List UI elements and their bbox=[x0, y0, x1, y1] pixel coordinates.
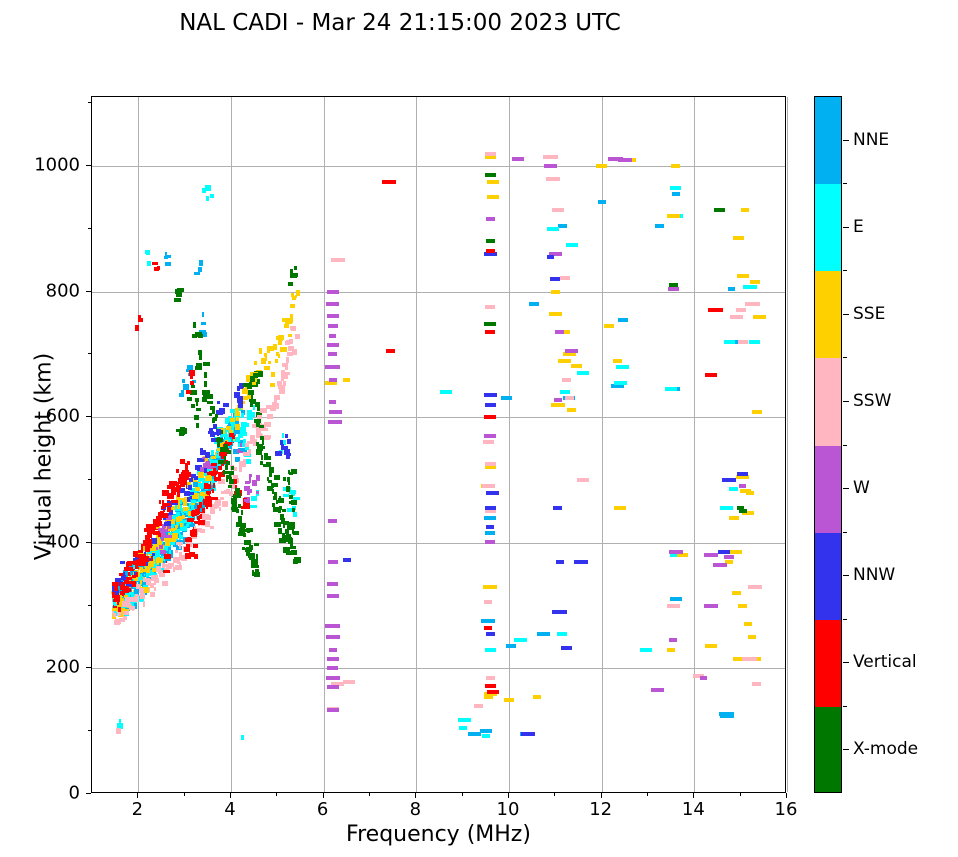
colorbar-tick bbox=[843, 401, 849, 402]
data-point bbox=[181, 390, 184, 394]
colorbar-tick bbox=[843, 227, 849, 228]
data-point bbox=[207, 459, 214, 465]
data-point bbox=[129, 602, 134, 607]
data-point bbox=[217, 439, 221, 444]
colorbar-segment-vertical bbox=[815, 620, 841, 707]
data-point bbox=[204, 484, 211, 489]
data-point bbox=[141, 577, 145, 581]
data-point bbox=[125, 602, 130, 607]
data-point bbox=[145, 592, 147, 595]
data-point bbox=[258, 371, 263, 377]
data-point bbox=[191, 381, 194, 387]
data-point bbox=[247, 394, 251, 399]
data-point bbox=[260, 461, 263, 465]
data-point bbox=[720, 506, 733, 510]
data-point bbox=[267, 414, 273, 419]
data-point bbox=[150, 560, 154, 565]
data-point bbox=[116, 593, 120, 598]
data-point bbox=[201, 467, 208, 470]
data-point bbox=[123, 609, 128, 614]
data-point bbox=[741, 208, 749, 212]
data-point bbox=[154, 581, 156, 585]
data-point bbox=[166, 547, 171, 551]
data-point bbox=[196, 528, 202, 532]
data-point bbox=[229, 426, 234, 431]
data-point bbox=[220, 437, 223, 442]
colorbar-segment-e bbox=[815, 184, 841, 271]
data-point bbox=[238, 440, 243, 444]
data-point bbox=[217, 500, 221, 506]
data-point bbox=[264, 435, 271, 439]
data-point bbox=[167, 521, 171, 525]
data-point bbox=[179, 500, 182, 504]
data-point bbox=[235, 493, 241, 498]
data-point bbox=[176, 506, 179, 510]
data-point bbox=[281, 378, 284, 381]
data-point bbox=[121, 582, 125, 585]
data-point bbox=[248, 554, 252, 558]
data-point bbox=[125, 570, 128, 576]
data-point bbox=[198, 334, 200, 338]
data-point bbox=[256, 433, 262, 437]
data-point bbox=[219, 447, 223, 451]
data-point bbox=[329, 334, 336, 338]
data-point bbox=[187, 461, 190, 465]
y-axis-tick bbox=[86, 667, 91, 668]
data-point bbox=[205, 521, 210, 527]
data-point bbox=[182, 515, 185, 519]
data-point bbox=[198, 500, 202, 505]
data-point bbox=[246, 547, 250, 551]
data-point bbox=[115, 619, 121, 624]
data-point bbox=[154, 568, 160, 572]
data-point bbox=[120, 596, 125, 600]
data-point bbox=[737, 472, 748, 476]
data-point bbox=[210, 509, 215, 514]
x-axis-minor-tick bbox=[554, 793, 555, 796]
data-point bbox=[118, 607, 121, 612]
data-point bbox=[271, 483, 274, 488]
data-point bbox=[226, 442, 232, 445]
data-point bbox=[279, 450, 283, 454]
data-point bbox=[160, 558, 166, 563]
data-point bbox=[485, 465, 496, 469]
data-point bbox=[167, 553, 173, 558]
data-point bbox=[123, 570, 128, 576]
data-point bbox=[240, 427, 246, 433]
data-point bbox=[141, 560, 148, 565]
data-point bbox=[154, 553, 159, 558]
data-point bbox=[172, 487, 179, 491]
data-point bbox=[126, 563, 133, 567]
data-point bbox=[156, 566, 161, 572]
data-point bbox=[749, 340, 760, 344]
data-point bbox=[116, 604, 123, 610]
data-point bbox=[484, 393, 497, 397]
data-point bbox=[227, 448, 229, 453]
data-point bbox=[121, 603, 128, 608]
data-point bbox=[244, 486, 250, 491]
data-point bbox=[139, 579, 145, 584]
data-point bbox=[139, 588, 144, 593]
data-point bbox=[149, 560, 152, 564]
data-point bbox=[280, 336, 283, 341]
data-point bbox=[286, 486, 290, 492]
data-point bbox=[226, 489, 230, 492]
data-point bbox=[230, 437, 233, 443]
data-point bbox=[240, 399, 242, 404]
data-point bbox=[180, 481, 183, 484]
data-point bbox=[176, 485, 181, 489]
data-point bbox=[458, 718, 471, 722]
data-point bbox=[202, 457, 205, 462]
data-point bbox=[260, 446, 265, 449]
data-point bbox=[126, 606, 130, 611]
data-point bbox=[245, 548, 252, 552]
data-point bbox=[173, 567, 175, 572]
data-point bbox=[738, 340, 748, 344]
data-point bbox=[272, 489, 274, 494]
data-point bbox=[484, 415, 496, 419]
data-point bbox=[131, 562, 137, 566]
data-point bbox=[566, 243, 578, 247]
data-point bbox=[286, 534, 291, 538]
data-point bbox=[565, 396, 574, 400]
data-point bbox=[171, 506, 175, 510]
data-point bbox=[222, 454, 226, 458]
data-point bbox=[228, 423, 234, 427]
data-point bbox=[485, 330, 495, 334]
data-point bbox=[234, 501, 237, 506]
data-point bbox=[343, 680, 355, 684]
data-point bbox=[218, 444, 224, 447]
data-point bbox=[200, 467, 206, 472]
data-point bbox=[125, 600, 132, 606]
data-point bbox=[158, 515, 160, 519]
data-point bbox=[152, 262, 158, 265]
data-point bbox=[136, 572, 140, 577]
data-point bbox=[234, 479, 237, 484]
data-point bbox=[145, 561, 148, 566]
data-point bbox=[135, 577, 137, 582]
data-point bbox=[555, 330, 570, 334]
data-point bbox=[116, 609, 120, 613]
data-point bbox=[293, 531, 299, 535]
data-point bbox=[205, 459, 210, 463]
data-point bbox=[125, 600, 127, 604]
data-point bbox=[179, 534, 181, 540]
data-point bbox=[733, 236, 744, 240]
data-point bbox=[232, 435, 235, 439]
data-point bbox=[329, 648, 337, 652]
data-point bbox=[267, 486, 273, 491]
data-point bbox=[151, 575, 158, 579]
data-point bbox=[227, 450, 231, 454]
data-point bbox=[154, 578, 159, 583]
data-point bbox=[162, 490, 169, 496]
data-point bbox=[140, 567, 143, 573]
data-point bbox=[164, 553, 167, 557]
data-point bbox=[142, 573, 146, 577]
data-point bbox=[113, 596, 119, 601]
data-point bbox=[218, 499, 220, 505]
data-point bbox=[235, 419, 239, 423]
y-axis-minor-tick bbox=[88, 102, 91, 103]
data-point bbox=[146, 524, 151, 529]
data-point bbox=[271, 405, 274, 410]
data-point bbox=[254, 372, 258, 377]
data-point bbox=[163, 542, 165, 547]
data-point bbox=[199, 497, 203, 500]
data-point bbox=[145, 578, 151, 584]
data-point bbox=[188, 485, 191, 490]
data-point bbox=[179, 488, 185, 493]
data-point bbox=[119, 618, 125, 622]
data-point bbox=[282, 509, 286, 512]
data-point bbox=[225, 428, 228, 432]
data-point bbox=[196, 481, 201, 485]
data-point bbox=[672, 192, 680, 196]
data-point bbox=[187, 518, 191, 524]
data-point bbox=[159, 547, 165, 553]
data-point bbox=[176, 495, 180, 500]
colorbar-boundary-tick bbox=[843, 619, 847, 620]
data-point bbox=[184, 509, 190, 513]
data-point bbox=[655, 224, 664, 228]
data-point bbox=[116, 584, 123, 587]
x-axis-tick-label: 8 bbox=[410, 799, 421, 820]
data-point bbox=[113, 603, 117, 608]
data-point bbox=[293, 559, 298, 564]
data-point bbox=[231, 466, 234, 470]
data-point bbox=[133, 603, 137, 609]
data-point bbox=[202, 312, 204, 317]
gridline-horizontal bbox=[92, 543, 785, 544]
data-point bbox=[132, 594, 138, 597]
data-point bbox=[137, 553, 142, 558]
x-axis-tick-label: 16 bbox=[775, 799, 798, 820]
data-point bbox=[245, 443, 249, 447]
data-point bbox=[130, 597, 137, 602]
data-point bbox=[286, 357, 289, 363]
data-point bbox=[116, 619, 120, 625]
colorbar-boundary-tick bbox=[843, 532, 847, 533]
data-point bbox=[704, 553, 718, 557]
data-point bbox=[239, 406, 241, 411]
data-point bbox=[284, 324, 289, 328]
data-point bbox=[199, 483, 202, 488]
data-point bbox=[114, 585, 118, 591]
data-point bbox=[221, 460, 224, 466]
data-point bbox=[228, 416, 232, 420]
data-point bbox=[196, 423, 199, 428]
data-point bbox=[198, 483, 203, 489]
data-point bbox=[198, 522, 200, 526]
data-point bbox=[228, 433, 231, 438]
data-point bbox=[283, 523, 285, 528]
data-point bbox=[188, 516, 194, 521]
data-point bbox=[192, 509, 195, 513]
data-point bbox=[184, 497, 190, 500]
data-point bbox=[146, 549, 149, 552]
data-point bbox=[229, 422, 234, 425]
data-point bbox=[224, 471, 230, 474]
data-point bbox=[211, 472, 216, 476]
data-point bbox=[157, 564, 161, 569]
data-point bbox=[623, 158, 636, 162]
data-point bbox=[746, 491, 754, 495]
data-point bbox=[185, 465, 188, 470]
data-point bbox=[190, 390, 197, 395]
data-point bbox=[150, 583, 154, 588]
data-point bbox=[127, 561, 133, 564]
data-point bbox=[289, 490, 296, 494]
data-point bbox=[484, 322, 496, 326]
y-axis-minor-tick bbox=[88, 353, 91, 354]
data-point bbox=[165, 536, 169, 539]
data-point bbox=[254, 371, 258, 375]
data-point bbox=[166, 555, 171, 561]
data-point bbox=[182, 470, 188, 473]
data-point bbox=[134, 570, 139, 576]
data-point bbox=[487, 180, 499, 184]
data-point bbox=[134, 598, 139, 602]
data-point bbox=[234, 421, 239, 426]
data-point bbox=[155, 556, 158, 562]
data-point bbox=[154, 547, 157, 551]
data-point bbox=[187, 397, 192, 401]
data-point bbox=[167, 503, 171, 506]
data-point bbox=[140, 581, 146, 586]
data-point bbox=[151, 563, 157, 568]
data-point bbox=[272, 503, 275, 507]
data-point bbox=[182, 513, 184, 517]
data-point bbox=[724, 555, 734, 559]
data-point bbox=[244, 503, 250, 509]
data-point bbox=[244, 452, 251, 457]
data-point bbox=[171, 490, 176, 495]
data-point bbox=[198, 478, 201, 482]
x-axis-tick-label: 4 bbox=[224, 799, 235, 820]
data-point bbox=[161, 513, 168, 518]
data-point bbox=[742, 511, 754, 515]
data-point bbox=[165, 521, 171, 525]
data-point bbox=[267, 346, 271, 349]
data-point bbox=[205, 185, 211, 191]
data-point bbox=[200, 493, 206, 499]
data-point bbox=[326, 302, 339, 306]
data-point bbox=[118, 587, 121, 590]
data-point bbox=[254, 419, 261, 423]
gridline-vertical bbox=[787, 97, 788, 792]
data-point bbox=[168, 537, 174, 540]
data-point bbox=[216, 461, 222, 466]
data-point bbox=[252, 424, 258, 428]
data-point bbox=[206, 503, 212, 507]
data-point bbox=[244, 425, 246, 429]
data-point bbox=[173, 530, 178, 534]
data-point bbox=[203, 517, 206, 522]
data-point bbox=[179, 544, 181, 549]
data-point bbox=[158, 558, 163, 563]
data-point bbox=[168, 533, 170, 537]
data-point bbox=[122, 593, 124, 596]
data-point bbox=[113, 599, 118, 602]
data-point bbox=[276, 500, 278, 504]
data-point bbox=[557, 632, 567, 636]
data-point bbox=[207, 474, 212, 479]
data-point bbox=[183, 507, 188, 511]
data-point bbox=[256, 490, 259, 496]
colorbar-tick bbox=[843, 749, 849, 750]
data-point bbox=[188, 503, 191, 507]
data-point bbox=[161, 507, 166, 510]
data-point bbox=[117, 601, 119, 605]
data-point bbox=[155, 519, 160, 524]
data-point bbox=[205, 503, 212, 507]
data-point bbox=[247, 489, 252, 493]
data-point bbox=[234, 418, 238, 423]
data-point bbox=[231, 432, 236, 436]
data-point bbox=[280, 440, 283, 445]
y-axis-label: Virtual height (km) bbox=[32, 327, 57, 587]
data-point bbox=[256, 423, 260, 427]
data-point bbox=[148, 542, 151, 546]
data-point bbox=[203, 482, 209, 486]
data-point bbox=[134, 598, 137, 603]
colorbar-segment-w bbox=[815, 446, 841, 533]
colorbar-tick bbox=[843, 140, 849, 141]
data-point bbox=[170, 536, 177, 540]
data-point bbox=[153, 545, 159, 550]
data-point bbox=[162, 581, 168, 586]
data-point bbox=[669, 638, 677, 642]
data-point bbox=[217, 445, 221, 450]
data-point bbox=[217, 440, 219, 445]
data-point bbox=[204, 372, 207, 378]
data-point bbox=[267, 456, 271, 460]
data-point bbox=[244, 499, 249, 505]
data-point bbox=[179, 552, 182, 557]
data-point bbox=[174, 530, 176, 535]
data-point bbox=[218, 472, 225, 477]
data-point bbox=[210, 482, 215, 485]
data-point bbox=[285, 529, 289, 534]
data-point bbox=[179, 433, 184, 436]
data-point bbox=[287, 453, 291, 456]
data-point bbox=[207, 492, 210, 495]
colorbar-segment-sse bbox=[815, 271, 841, 358]
data-point bbox=[267, 346, 274, 351]
data-point bbox=[139, 596, 141, 602]
data-point bbox=[205, 463, 209, 469]
colorbar-tick bbox=[843, 575, 849, 576]
data-point bbox=[537, 632, 550, 636]
data-point bbox=[145, 541, 147, 545]
data-point bbox=[170, 538, 176, 542]
data-point bbox=[182, 529, 187, 532]
data-point bbox=[257, 407, 260, 411]
x-axis-tick-label: 6 bbox=[317, 799, 328, 820]
data-point bbox=[294, 273, 298, 277]
data-point bbox=[252, 563, 258, 568]
data-point bbox=[207, 401, 213, 404]
data-point bbox=[292, 296, 296, 300]
data-point bbox=[202, 488, 205, 492]
data-point bbox=[125, 597, 132, 602]
data-point bbox=[276, 352, 279, 356]
data-point bbox=[200, 499, 206, 504]
